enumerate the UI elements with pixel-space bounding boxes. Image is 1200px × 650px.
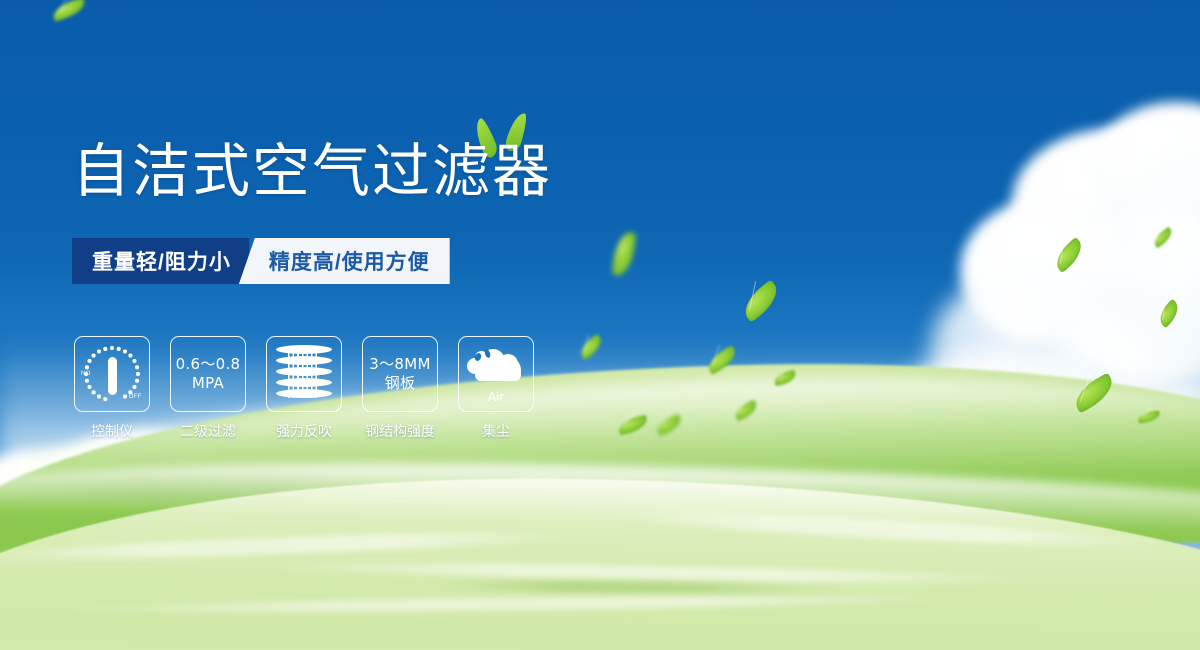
page-title: 自洁式空气过滤器 <box>72 142 552 200</box>
pressure-range: 0.6～0.8 <box>176 355 241 374</box>
dial-off-label: OFF <box>129 394 142 400</box>
feature-icon-box: Air <box>458 336 534 412</box>
subtitle-right: 精度高/使用方便 <box>239 238 450 284</box>
control-dial-icon: NO OFF <box>81 343 143 405</box>
feature-list: NO OFF 控制仪 0.6～0.8 MPA 二级过滤 <box>74 336 534 441</box>
feature-item[interactable]: 强力反吹 <box>266 336 342 441</box>
feature-icon-box: 3～8MM 钢板 <box>362 336 438 412</box>
feature-label: 强力反吹 <box>276 421 332 441</box>
feature-item[interactable]: 3～8MM 钢板 钢结构强度 <box>362 336 438 441</box>
banner-content: 自洁式空气过滤器 重量轻/阻力小 精度高/使用方便 <box>0 0 1200 650</box>
pressure-value-icon: 0.6～0.8 MPA <box>176 355 241 393</box>
feature-label: 二级过滤 <box>180 421 236 441</box>
subtitle-bar: 重量轻/阻力小 精度高/使用方便 <box>72 238 450 284</box>
feature-label: 集尘 <box>482 421 510 441</box>
pressure-unit: MPA <box>176 374 241 393</box>
steel-material: 钢板 <box>369 374 430 393</box>
feature-icon-box: 0.6～0.8 MPA <box>170 336 246 412</box>
steel-thickness-icon: 3～8MM 钢板 <box>369 355 430 393</box>
subtitle-left: 重量轻/阻力小 <box>72 238 249 284</box>
feature-label: 钢结构强度 <box>365 421 435 441</box>
feature-label: 控制仪 <box>91 421 133 441</box>
air-cloud-icon: Air <box>465 345 527 403</box>
air-label: Air <box>465 390 527 404</box>
feature-item[interactable]: Air 集尘 <box>458 336 534 441</box>
steel-range: 3～8MM <box>369 355 430 374</box>
feature-item[interactable]: NO OFF 控制仪 <box>74 336 150 441</box>
feature-icon-box <box>266 336 342 412</box>
feature-icon-box: NO OFF <box>74 336 150 412</box>
feature-item[interactable]: 0.6～0.8 MPA 二级过滤 <box>170 336 246 441</box>
dial-on-label: NO <box>81 371 91 377</box>
filter-cartridge-stack-icon <box>276 345 332 403</box>
product-banner: 自洁式空气过滤器 重量轻/阻力小 精度高/使用方便 <box>0 0 1200 650</box>
